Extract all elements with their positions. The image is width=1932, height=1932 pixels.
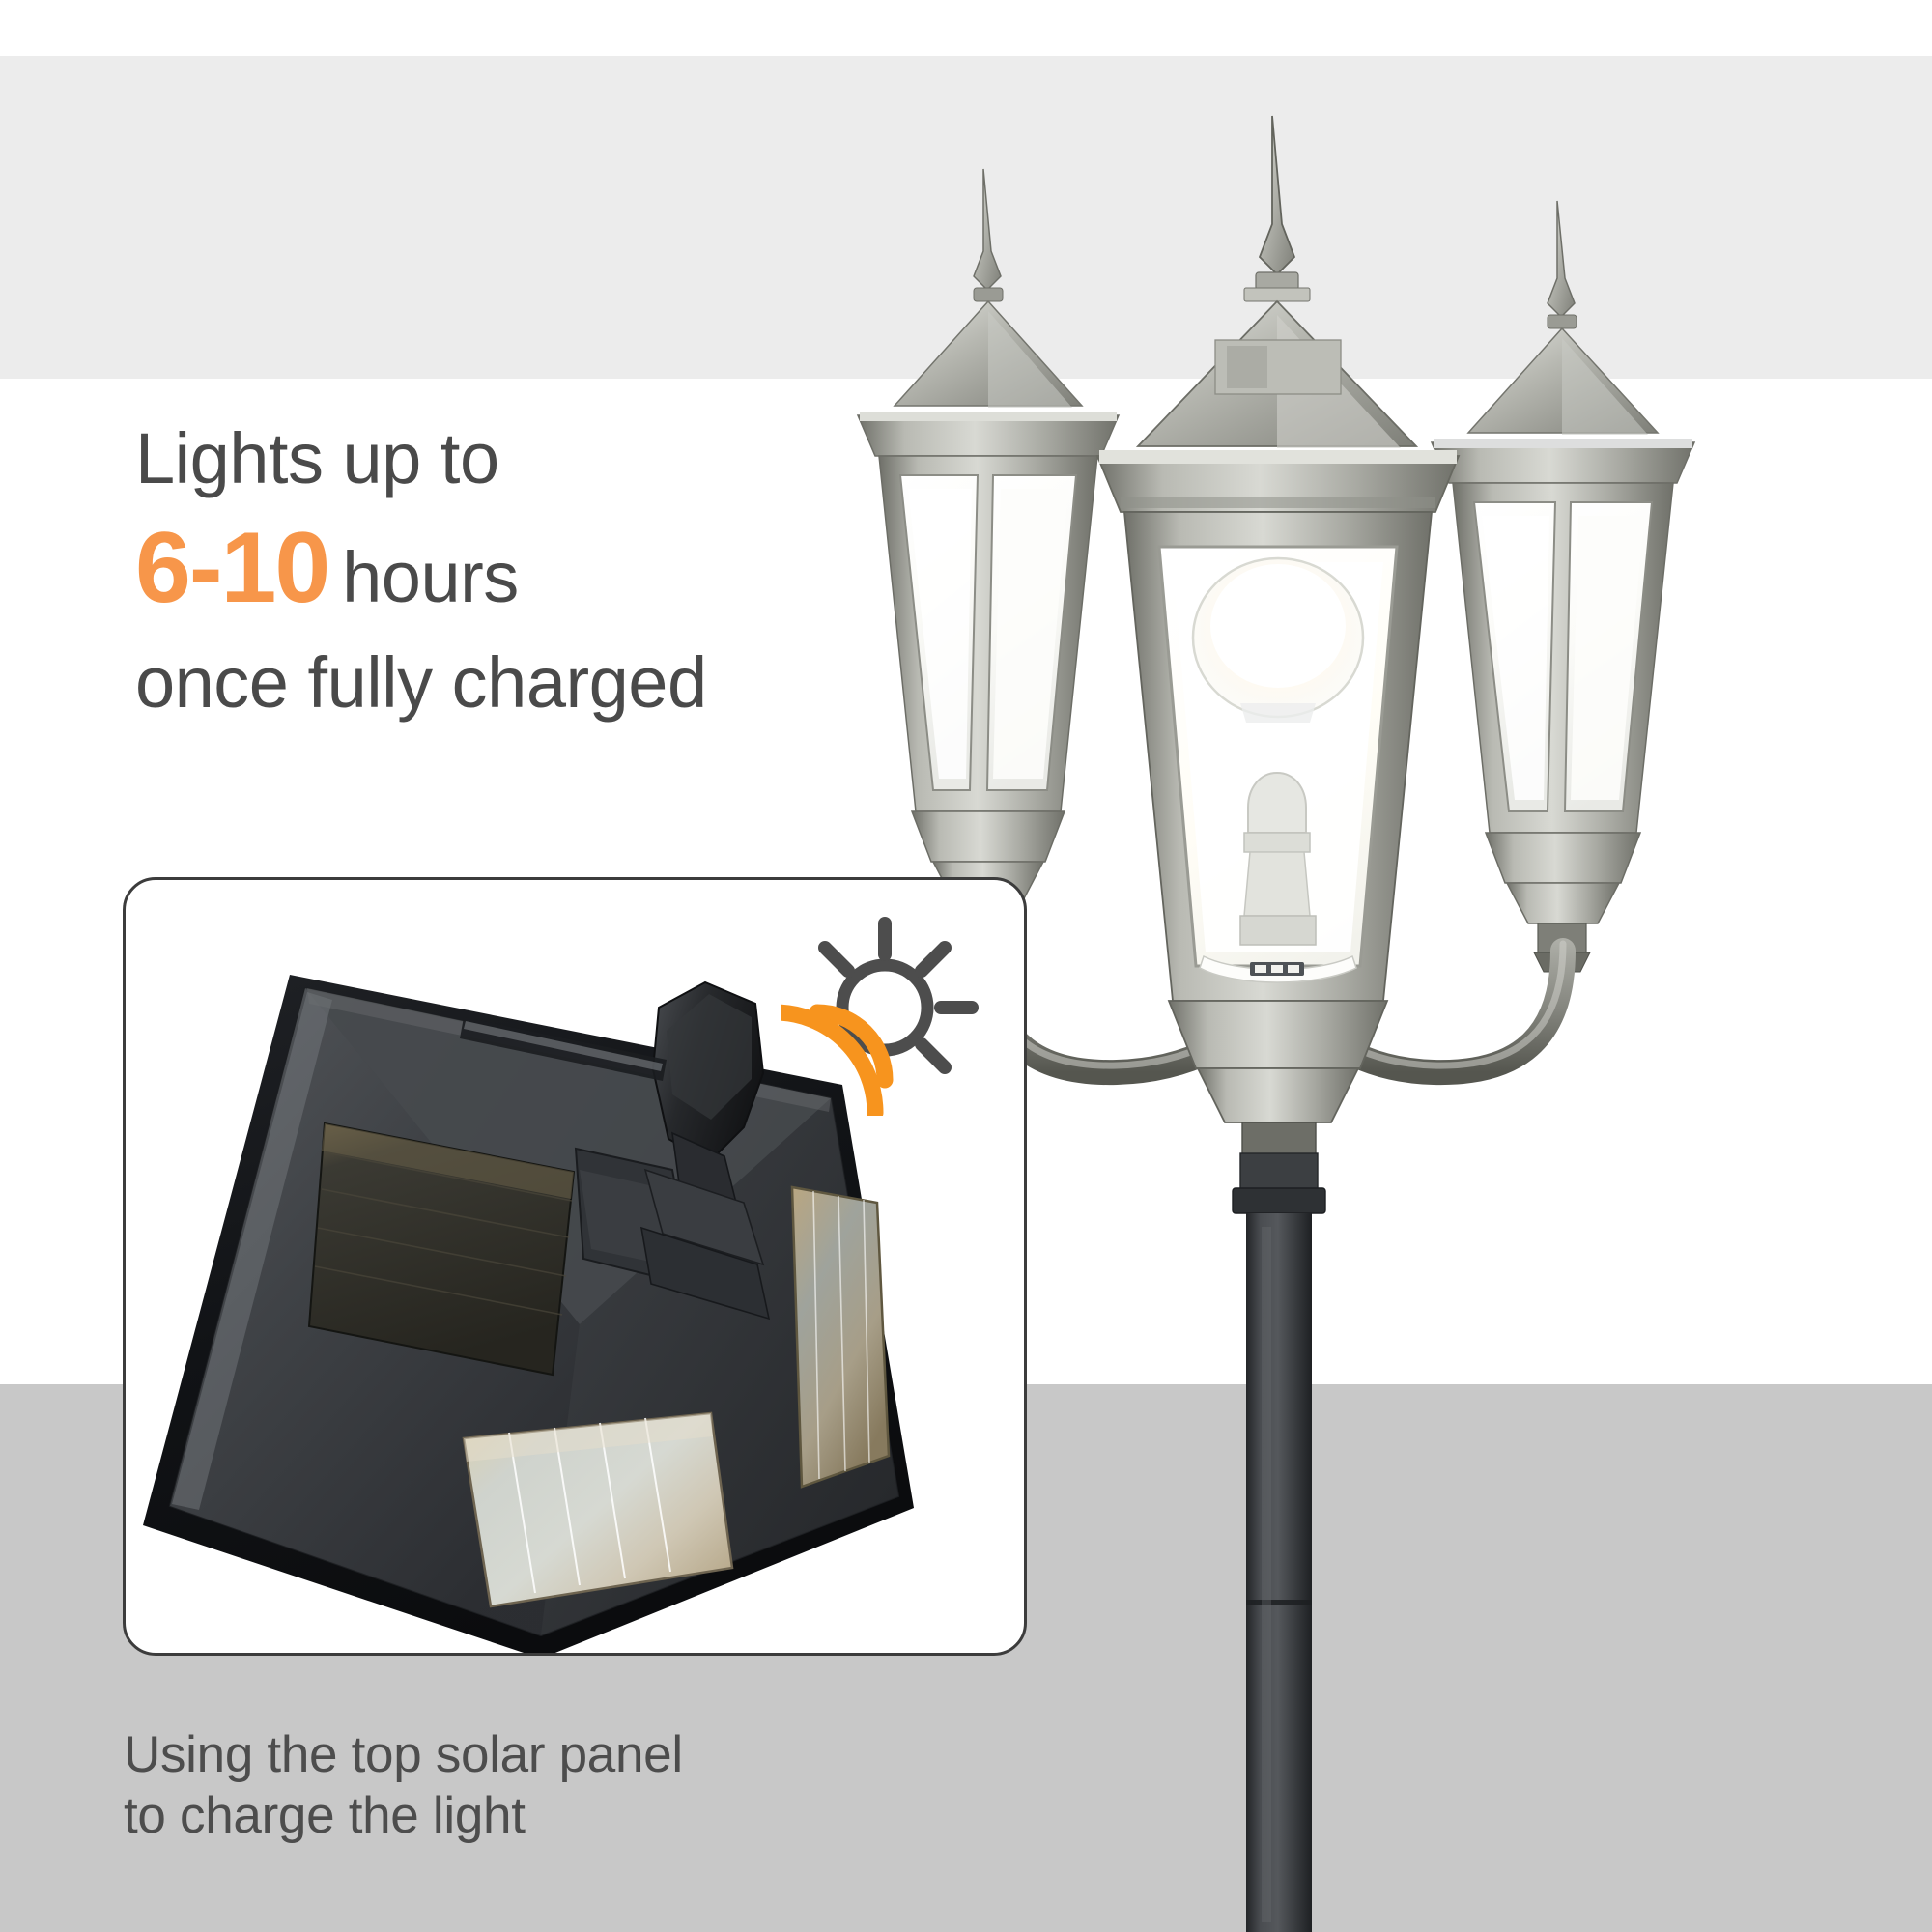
caption-line-2: to charge the light: [124, 1786, 858, 1847]
lamp-head-right: [1432, 201, 1694, 972]
sun-charging-icon: [781, 908, 983, 1116]
product-feature-image: Lights up to 6-10hours once fully charge…: [0, 0, 1932, 1932]
headline-line-1: Lights up to: [135, 423, 927, 495]
hours-highlight: 6-10: [135, 512, 328, 624]
hours-label: hours: [342, 537, 519, 617]
card-caption: Using the top solar panel to charge the …: [124, 1725, 858, 1846]
sun-circle: [842, 965, 927, 1050]
headline-line-2: 6-10hours: [135, 518, 927, 618]
lamp-pole: [1233, 1153, 1325, 1932]
headline-line-3: once fully charged: [135, 647, 927, 719]
headline-block: Lights up to 6-10hours once fully charge…: [135, 423, 927, 719]
caption-line-1: Using the top solar panel: [124, 1725, 858, 1786]
sun-signal-arcs: [781, 1012, 885, 1113]
solar-cell-right: [792, 1187, 889, 1487]
lamp-head-center: [1097, 116, 1459, 1155]
